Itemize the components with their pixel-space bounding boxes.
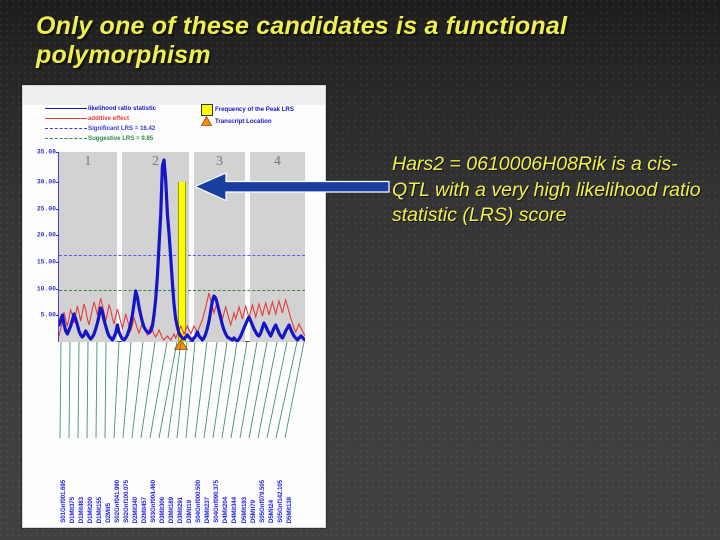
legend-swatch-frequency-square [201,104,213,116]
marker-label: S02Gnf041.990 [114,480,121,523]
legend-swatch-lrs-line [45,108,87,109]
marker-label: D1Mit483 [78,497,85,523]
marker-label: D4Mit344 [231,497,238,523]
marker-label: S04Gnf000.500 [195,480,202,523]
legend-swatch-transcript-triangle [201,116,212,126]
legend-label-significant: Significant LRS = 16.42 [88,125,155,132]
marker-label-list: S01Gnf001.695D1Mit375D1Mit483D1Mit200D1M… [59,348,305,523]
legend-swatch-significant-line [45,128,87,129]
marker-label: D5Mit24 [268,500,275,523]
marker-label: S01Gnf001.695 [60,480,67,523]
y-tick-label-25: 25.00 [37,205,56,212]
marker-label: D1Mit155 [96,497,103,523]
marker-label: D3Mit189 [168,497,175,523]
marker-label: D3Mit306 [159,497,166,523]
marker-label: S03Gnf004.460 [150,480,157,523]
marker-label: D5Mit79 [250,500,257,523]
marker-label: S02Gnf100.075 [123,480,130,523]
marker-label: S05Gnf079.505 [259,480,266,523]
legend-label-additive: additive effect [88,115,129,122]
legend-swatch-suggestive-line [45,138,87,139]
legend-label-frequency: Frequency of the Peak LRS [215,106,294,113]
marker-label: S05Gnf142.105 [277,480,284,523]
legend-label-transcript: Transcript Location [215,118,272,125]
legend-label-lrs: likelihood ratio statistic [88,105,156,112]
marker-label: D2Mit5 [105,503,112,523]
marker-label: D5Mit193 [241,497,248,523]
marker-label: S04Gnf090.375 [213,480,220,523]
y-tick-label-30: 30.00 [37,179,56,186]
y-tick-label-5: 5.00 [41,312,56,319]
y-tick-label-35: 35.69 [37,149,56,156]
qtl-chart-panel: likelihood ratio statistic additive effe… [22,85,326,528]
y-tick-label-10: 10.00 [37,285,56,292]
marker-label: D3Mit19 [186,500,193,523]
marker-label: D4Mit237 [204,497,211,523]
marker-label: D1Mit375 [69,497,76,523]
y-tick-label-15: 15.00 [37,259,56,266]
callout-arrow-icon [190,168,390,208]
annotation-text: Hars2 = 0610006H08Rik is a cis-QTL with … [392,152,712,229]
chart-header-strip [23,86,325,105]
marker-label: D2Mit457 [141,497,148,523]
page-title: Only one of these candidates is a functi… [36,12,696,69]
marker-label: D4Mit204 [222,497,229,523]
marker-label: D3Mit291 [177,497,184,523]
y-tick-label-20: 20.00 [37,232,56,239]
marker-label: D1Mit200 [87,497,94,523]
legend-label-suggestive: Suggestive LRS = 9.85 [88,135,153,142]
marker-label: D5Mit138 [286,497,293,523]
marker-label: D2Mit340 [132,497,139,523]
legend-swatch-additive-line [45,118,87,119]
